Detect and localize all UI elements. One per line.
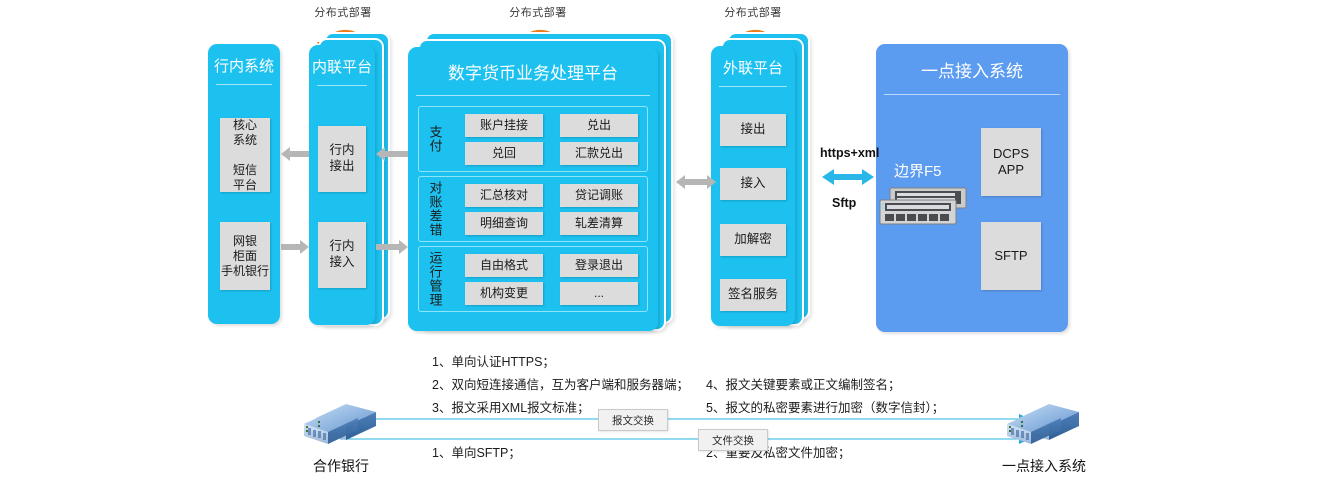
- f5-boundary-label: 边界F5: [894, 160, 942, 181]
- architecture-diagram: 分布式部署 分布式部署 分布式部署 行内系统 核心 系统 短信 平台 网银 柜面…: [0, 0, 1333, 483]
- panel-bank-internal-title: 行内系统: [208, 44, 280, 76]
- chip-core-system[interactable]: 核心 系统 短信 平台: [220, 118, 270, 192]
- chip-account-link[interactable]: 账户挂接: [465, 114, 543, 137]
- group-payment-label: 支付: [423, 106, 447, 172]
- note-msg-right-4: 4、报文关键要素或正文编制签名；: [706, 375, 900, 396]
- arrow-left-core-from-intranet: [281, 145, 309, 168]
- deploy-label-dcep: 分布式部署: [500, 4, 576, 20]
- protocol-label-https-xml: https+xml: [820, 146, 879, 160]
- chip-signature-service[interactable]: 签名服务: [720, 279, 786, 311]
- chip-remittance-out[interactable]: 汇款兑出: [560, 142, 638, 165]
- deploy-label-external: 分布式部署: [715, 4, 791, 20]
- protocol-label-sftp: Sftp: [832, 196, 856, 210]
- chip-intranet-in[interactable]: 行内 接入: [318, 222, 366, 288]
- arrow-left-intranet-from-dcep: [376, 145, 408, 168]
- chip-netting-settlement[interactable]: 轧差清算: [560, 212, 638, 235]
- chip-external-out[interactable]: 接出: [720, 114, 786, 146]
- group-operation-management-label: 运行管理: [423, 246, 447, 312]
- arrow-bidirectional-dcep-external: [676, 173, 716, 196]
- caption-partner-bank: 合作银行: [300, 456, 382, 476]
- chip-dcps-app[interactable]: DCPS APP: [981, 128, 1041, 196]
- server-stack-icon-partner-bank: [300, 400, 382, 448]
- note-msg-left-2: 2、双向短连接通信，互为客户端和服务器端；: [432, 375, 689, 396]
- panel-intranet-platform-title: 内联平台: [309, 45, 375, 77]
- chip-credit-adjust[interactable]: 贷记调账: [560, 184, 638, 207]
- f5-device-icon: [876, 186, 976, 230]
- chip-exchange-out[interactable]: 兑出: [560, 114, 638, 137]
- chip-exchange-back[interactable]: 兑回: [465, 142, 543, 165]
- chip-institution-change[interactable]: 机构变更: [465, 282, 543, 305]
- flowline-file-exchange: [340, 432, 1030, 446]
- tag-file-exchange[interactable]: 文件交换: [698, 429, 768, 451]
- chip-external-in[interactable]: 接入: [720, 168, 786, 200]
- flowline-message-exchange: [340, 412, 1030, 426]
- chip-login-logout[interactable]: 登录退出: [560, 254, 638, 277]
- arrow-bidirectional-protocol: [822, 167, 874, 192]
- chip-free-format[interactable]: 自由格式: [465, 254, 543, 277]
- panel-external-platform-title: 外联平台: [711, 46, 795, 78]
- chip-ebank-counter-mobile[interactable]: 网银 柜面 手机银行: [220, 222, 270, 290]
- note-file-left-1: 1、单向SFTP；: [432, 443, 521, 464]
- caption-one-point-access: 一点接入系统: [994, 456, 1094, 476]
- chip-sftp[interactable]: SFTP: [981, 222, 1041, 290]
- arrow-right-ebank-to-intranet: [281, 238, 309, 261]
- chip-intranet-out[interactable]: 行内 接出: [318, 126, 366, 192]
- chip-summary-check[interactable]: 汇总核对: [465, 184, 543, 207]
- deploy-label-intranet: 分布式部署: [305, 4, 381, 20]
- panel-dcep-platform-title: 数字货币业务处理平台: [408, 47, 658, 84]
- panel-one-point-access-title: 一点接入系统: [876, 44, 1068, 82]
- note-msg-left-1: 1、单向认证HTTPS；: [432, 352, 555, 373]
- chip-encrypt-decrypt[interactable]: 加解密: [720, 224, 786, 256]
- chip-more[interactable]: ...: [560, 282, 638, 305]
- arrow-right-intranet-to-dcep: [376, 238, 408, 261]
- tag-message-exchange[interactable]: 报文交换: [598, 409, 668, 431]
- group-reconciliation-label: 对账差错: [423, 176, 447, 242]
- chip-detail-query[interactable]: 明细查询: [465, 212, 543, 235]
- server-stack-icon-one-point-access: [1003, 400, 1085, 448]
